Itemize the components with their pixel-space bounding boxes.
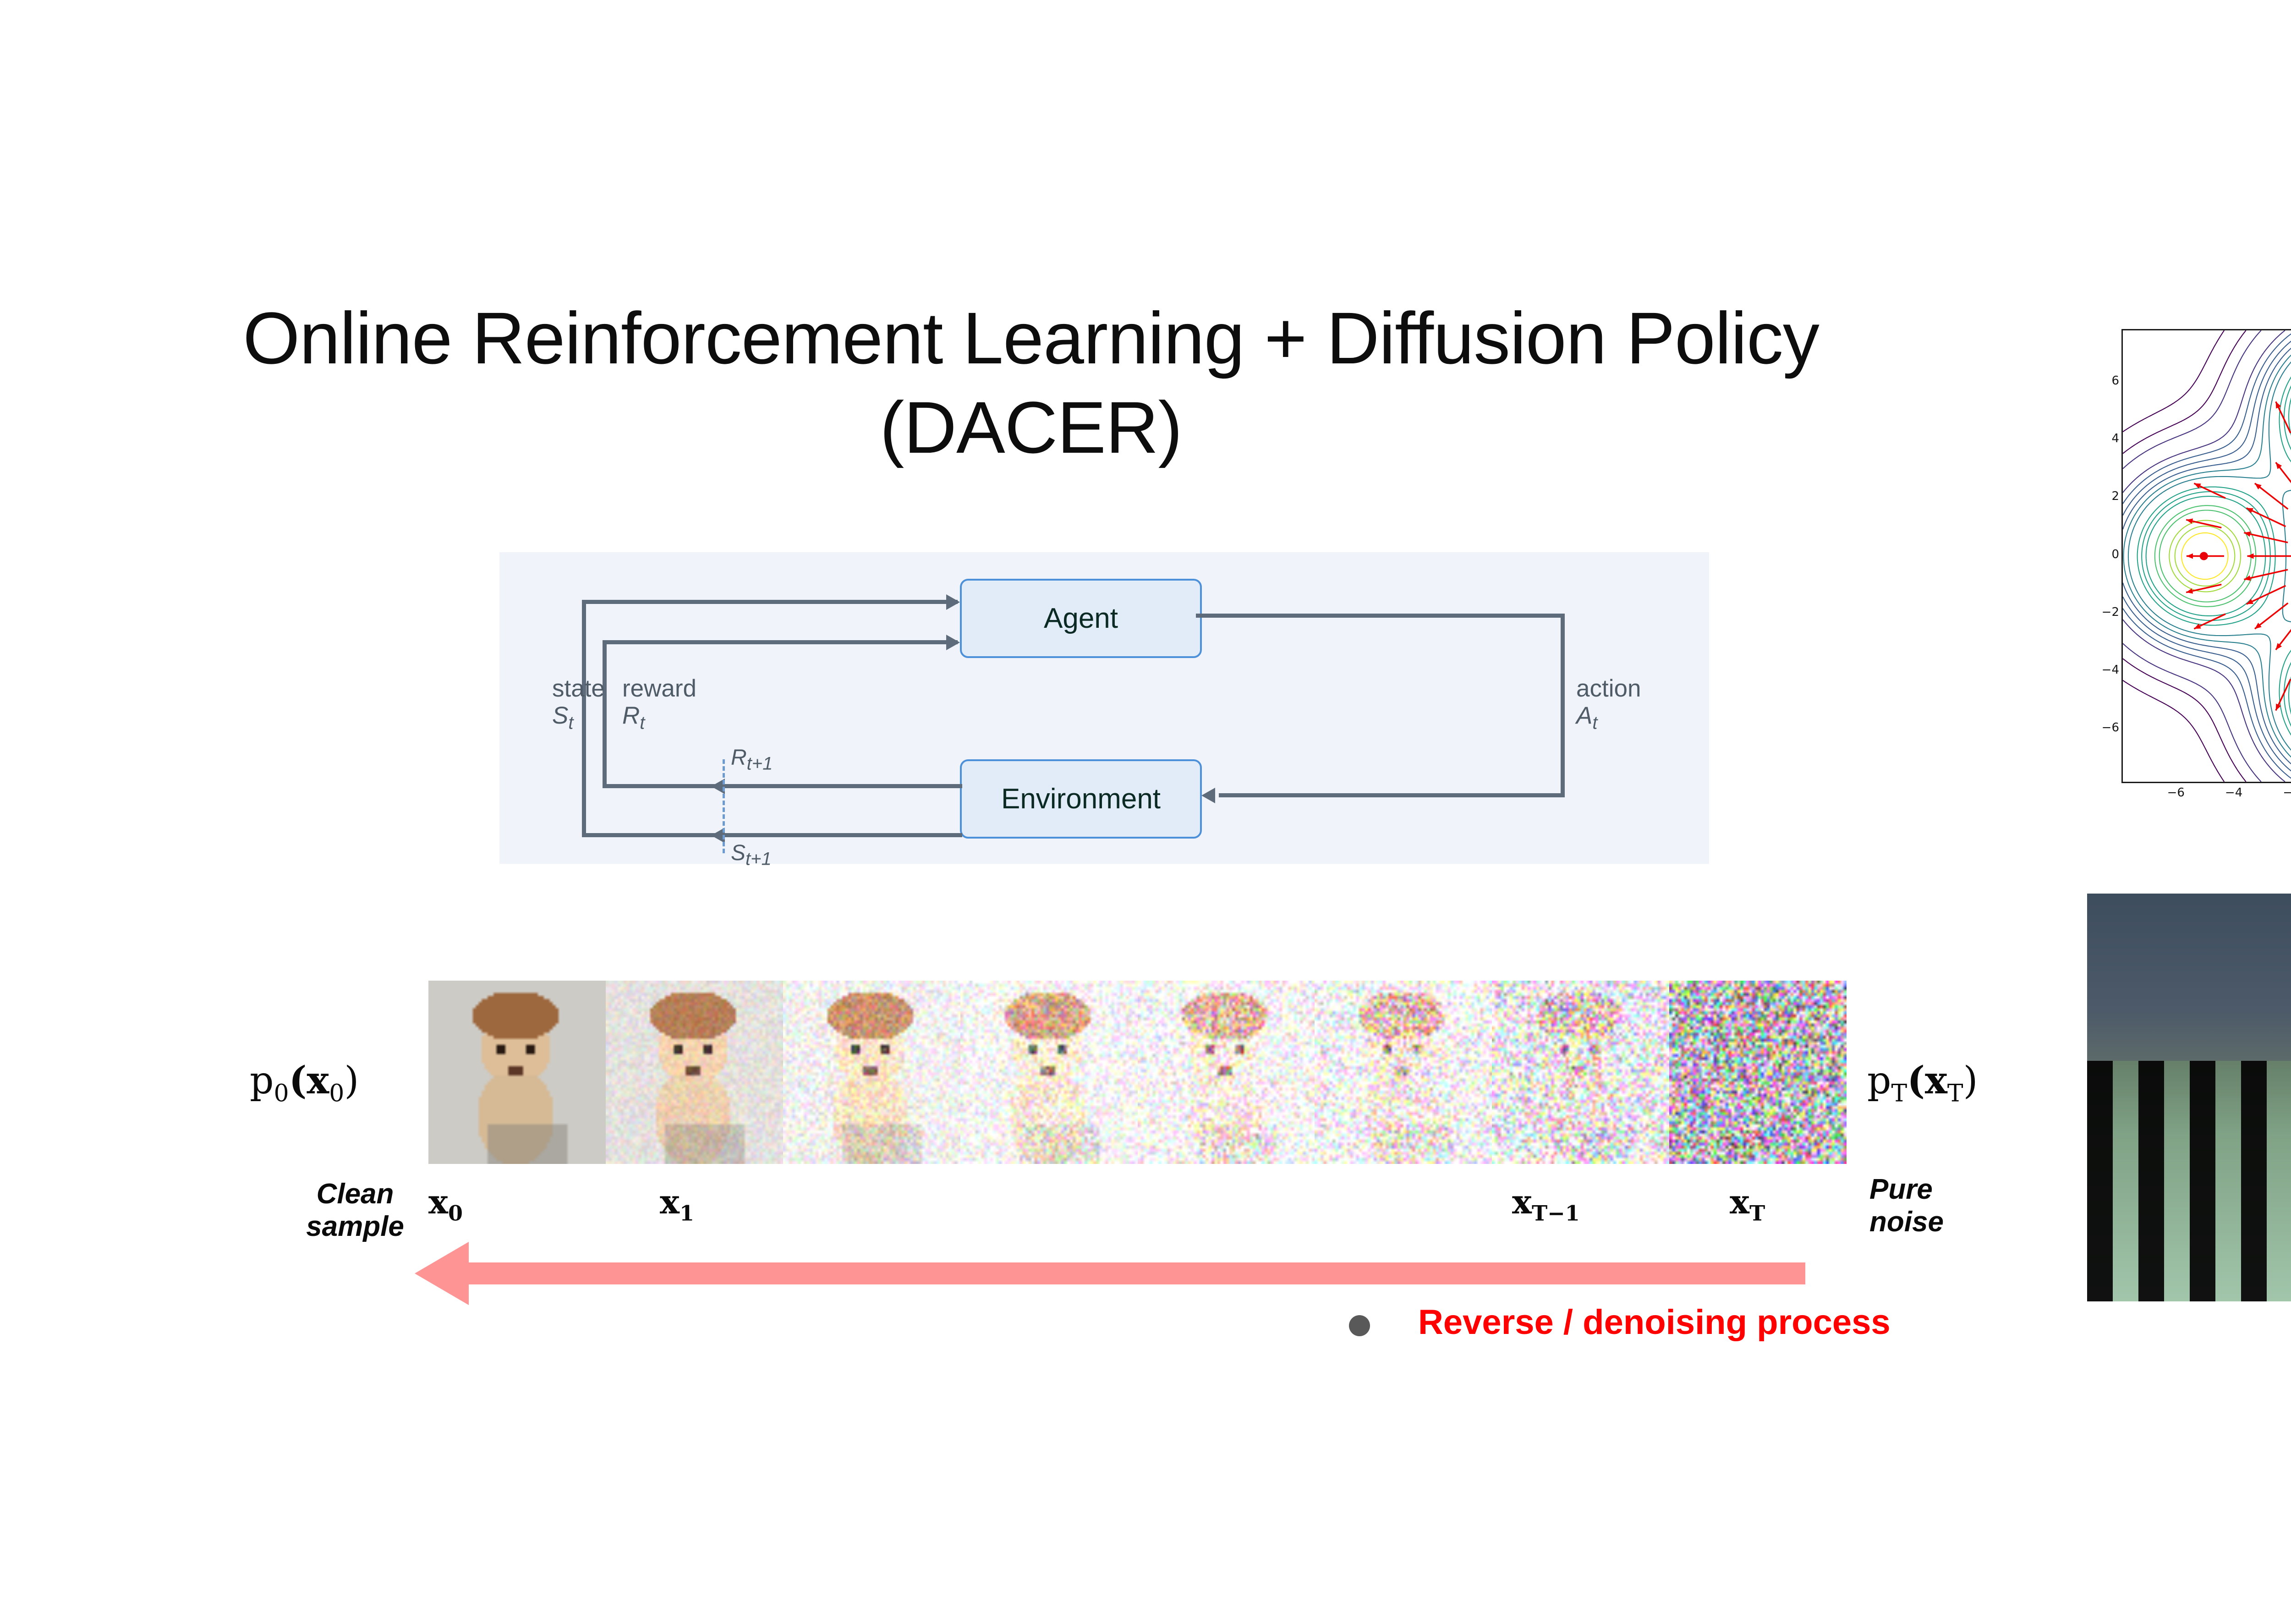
- contour-x-tick: −4: [2225, 786, 2242, 800]
- next-reward-symbol: R: [731, 746, 747, 770]
- diffusion-panel-2: [783, 981, 960, 1164]
- env-to-state-line: [724, 833, 962, 837]
- contour-svg: [2123, 330, 2291, 782]
- diffusion-panel-7: [1669, 981, 1847, 1164]
- timestep-dashed-line: [723, 759, 725, 853]
- next-state-symbol: S: [731, 841, 745, 865]
- reward-arrow-head: [946, 635, 960, 650]
- reward-rail-bottom: [603, 784, 729, 788]
- diffusion-image-strip: [428, 981, 1847, 1164]
- contour-plot-figure: −6−4−20246−6−4−20246: [2087, 321, 2291, 859]
- diffusion-panel-4: [1138, 981, 1315, 1164]
- contour-y-tick: 0: [2100, 548, 2119, 561]
- next-state-subscript: t+1: [745, 849, 772, 869]
- reward-subscript: t: [640, 713, 645, 733]
- diffusion-panel-6: [1492, 981, 1669, 1164]
- action-line-top: [1196, 614, 1565, 618]
- step-label-xT-minus-1: xT−1: [1512, 1182, 1580, 1225]
- step-label-x0: x0: [428, 1182, 463, 1225]
- action-symbol: A: [1576, 702, 1592, 729]
- contour-y-tick: 2: [2100, 489, 2119, 503]
- step-label-x1: x1: [660, 1182, 694, 1225]
- state-symbol: S: [552, 702, 568, 729]
- state-arrow-head: [946, 594, 960, 610]
- agent-box: Agent: [960, 579, 1202, 658]
- state-rail-bottom: [582, 833, 729, 837]
- diffusion-panel-0: [428, 981, 606, 1164]
- contour-x-tick: −2: [2283, 786, 2291, 800]
- state-feedback-line: [582, 600, 958, 604]
- state-label: state St: [552, 675, 605, 734]
- action-label-text: action: [1576, 675, 1641, 702]
- contour-y-tick: −4: [2100, 663, 2119, 677]
- humanoid-figure: [2087, 894, 2291, 1301]
- contour-y-tick: −2: [2100, 605, 2119, 619]
- diffusion-panel-5: [1315, 981, 1492, 1164]
- state-label-text: state: [552, 675, 605, 702]
- diffusion-panel-3: [960, 981, 1138, 1164]
- next-reward-label: Rt+1: [731, 746, 773, 774]
- agent-box-label: Agent: [1044, 602, 1118, 635]
- env-to-reward-line: [724, 784, 962, 788]
- reverse-process-arrow-head: [415, 1242, 469, 1305]
- contour-x-tick: −6: [2167, 786, 2185, 800]
- environment-box-label: Environment: [1001, 783, 1161, 815]
- clean-density-label: p0(x0): [250, 1059, 359, 1107]
- reward-label: reward Rt: [622, 675, 696, 734]
- clean-sample-label: Clean sample: [293, 1178, 417, 1243]
- reward-symbol: R: [622, 702, 640, 729]
- next-state-label: St+1: [731, 841, 772, 869]
- pure-noise-label: Pure noise: [1869, 1173, 2007, 1239]
- mode-marker: [2200, 552, 2208, 560]
- step-label-xT: xT: [1730, 1182, 1765, 1225]
- bullet-icon: [1349, 1315, 1370, 1336]
- contour-y-tick: 6: [2100, 374, 2119, 388]
- action-line-bottom: [1219, 793, 1565, 797]
- action-subscript: t: [1592, 713, 1597, 733]
- action-label: action At: [1576, 675, 1641, 734]
- action-rail-vertical: [1561, 614, 1565, 797]
- reverse-process-caption: Reverse / denoising process: [1418, 1302, 1891, 1342]
- rl-loop-diagram: Agent Environment state St reward Rt act…: [499, 552, 1709, 864]
- reverse-process-arrow-shaft: [465, 1262, 1805, 1284]
- state-subscript: t: [568, 713, 573, 733]
- contour-plot-axes: [2121, 329, 2291, 783]
- noise-density-label: pT(xT): [1867, 1059, 1978, 1107]
- reward-label-text: reward: [622, 675, 696, 702]
- environment-box: Environment: [960, 759, 1202, 839]
- contour-y-tick: −6: [2100, 721, 2119, 735]
- humanoid-simulation-image: [2087, 894, 2291, 1301]
- page-title: Online Reinforcement Learning + Diffusio…: [137, 293, 1924, 472]
- action-arrow-head: [1201, 788, 1215, 803]
- next-reward-subscript: t+1: [747, 754, 773, 774]
- reward-feedback-line: [603, 640, 958, 644]
- contour-y-tick: 4: [2100, 432, 2119, 445]
- diffusion-panel-1: [606, 981, 783, 1164]
